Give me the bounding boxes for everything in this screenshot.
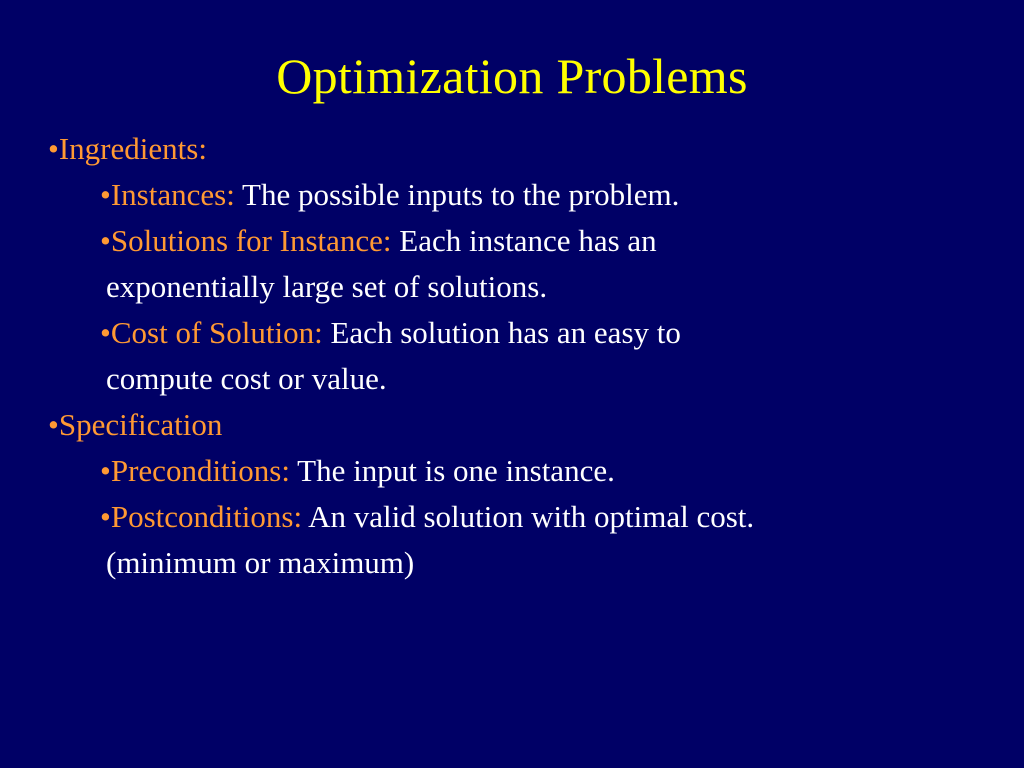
bullet-label: Preconditions: xyxy=(111,453,290,488)
bullet-text: Each instance has an xyxy=(392,223,657,258)
bullet-text: compute cost or value. xyxy=(106,361,387,396)
bullet-line: •Specification xyxy=(48,402,1008,448)
bullet-line: •Ingredients: xyxy=(48,126,1008,172)
bullet-text: (minimum or maximum) xyxy=(106,545,414,580)
slide-title: Optimization Problems xyxy=(0,48,1024,104)
bullet-icon: • xyxy=(100,177,111,212)
bullet-line: compute cost or value. xyxy=(48,356,1008,402)
bullet-icon: • xyxy=(100,315,111,350)
bullet-line: •Solutions for Instance: Each instance h… xyxy=(48,218,1008,264)
bullet-icon: • xyxy=(48,131,59,166)
slide-body: •Ingredients:•Instances: The possible in… xyxy=(48,126,1008,586)
bullet-line: exponentially large set of solutions. xyxy=(48,264,1008,310)
bullet-icon: • xyxy=(100,499,111,534)
bullet-label: Specification xyxy=(59,407,223,442)
bullet-line: •Instances: The possible inputs to the p… xyxy=(48,172,1008,218)
bullet-text: The input is one instance. xyxy=(290,453,615,488)
bullet-line: •Cost of Solution: Each solution has an … xyxy=(48,310,1008,356)
bullet-line: •Postconditions: An valid solution with … xyxy=(48,494,1008,540)
bullet-line: (minimum or maximum) xyxy=(48,540,1008,586)
bullet-label: Ingredients: xyxy=(59,131,207,166)
bullet-text: Each solution has an easy to xyxy=(323,315,681,350)
bullet-label: Instances: xyxy=(111,177,235,212)
slide-canvas: Optimization Problems •Ingredients:•Inst… xyxy=(0,0,1024,768)
bullet-label: Cost of Solution: xyxy=(111,315,323,350)
bullet-line: •Preconditions: The input is one instanc… xyxy=(48,448,1008,494)
bullet-label: Postconditions: xyxy=(111,499,302,534)
bullet-icon: • xyxy=(48,407,59,442)
bullet-text: exponentially large set of solutions. xyxy=(106,269,547,304)
bullet-icon: • xyxy=(100,223,111,258)
bullet-icon: • xyxy=(100,453,111,488)
bullet-text: The possible inputs to the problem. xyxy=(235,177,680,212)
bullet-label: Solutions for Instance: xyxy=(111,223,392,258)
bullet-text: An valid solution with optimal cost. xyxy=(302,499,754,534)
